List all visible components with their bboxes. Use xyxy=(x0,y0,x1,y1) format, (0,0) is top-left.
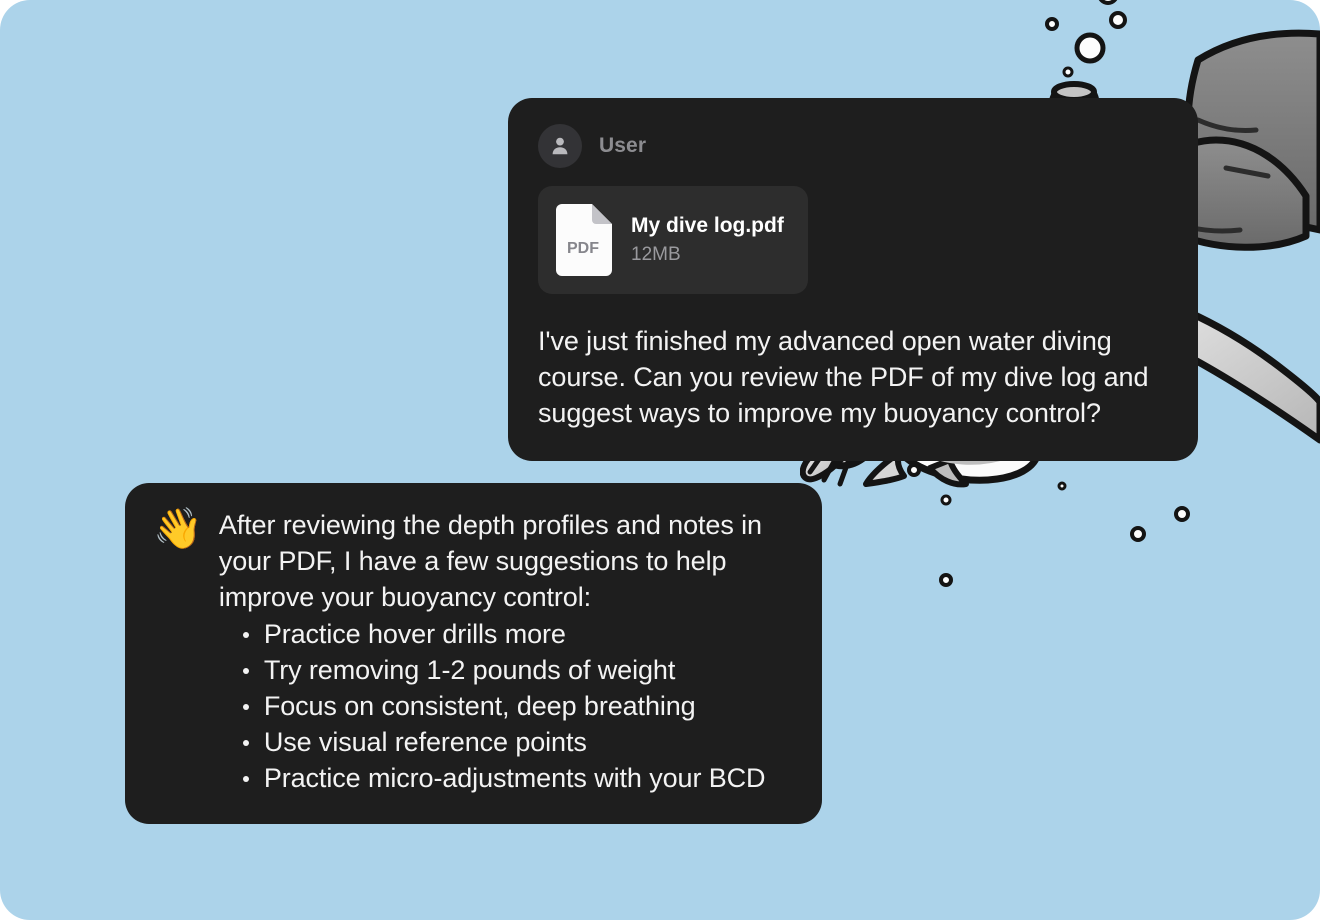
file-name: My dive log.pdf xyxy=(631,214,784,238)
avatar xyxy=(538,124,582,168)
file-size: 12MB xyxy=(631,244,784,266)
file-meta: My dive log.pdf 12MB xyxy=(631,214,784,266)
person-avatar-icon xyxy=(548,134,572,158)
assistant-intro-text: After reviewing the depth profiles and n… xyxy=(219,507,792,615)
pdf-file-icon: PDF xyxy=(556,204,612,276)
list-item: Focus on consistent, deep breathing xyxy=(239,688,792,724)
list-item: Practice hover drills more xyxy=(239,616,792,652)
user-message-text: I've just finished my advanced open wate… xyxy=(538,323,1168,431)
list-item: Try removing 1-2 pounds of weight xyxy=(239,652,792,688)
list-item: Use visual reference points xyxy=(239,724,792,760)
waving-hand-emoji: 👋 xyxy=(153,509,203,549)
assistant-message-bubble: 👋 After reviewing the depth profiles and… xyxy=(125,483,822,824)
list-item: Practice micro-adjustments with your BCD xyxy=(239,760,792,796)
svg-text:PDF: PDF xyxy=(567,240,599,257)
user-message-bubble: User PDF My dive log.pdf 12MB I've just … xyxy=(508,98,1198,461)
attachment-card[interactable]: PDF My dive log.pdf 12MB xyxy=(538,186,808,294)
suggestion-list: Practice hover drills more Try removing … xyxy=(219,616,792,796)
author-name: User xyxy=(599,134,646,158)
message-header: User xyxy=(538,124,1168,168)
screenshot-root: User PDF My dive log.pdf 12MB I've just … xyxy=(0,0,1320,920)
